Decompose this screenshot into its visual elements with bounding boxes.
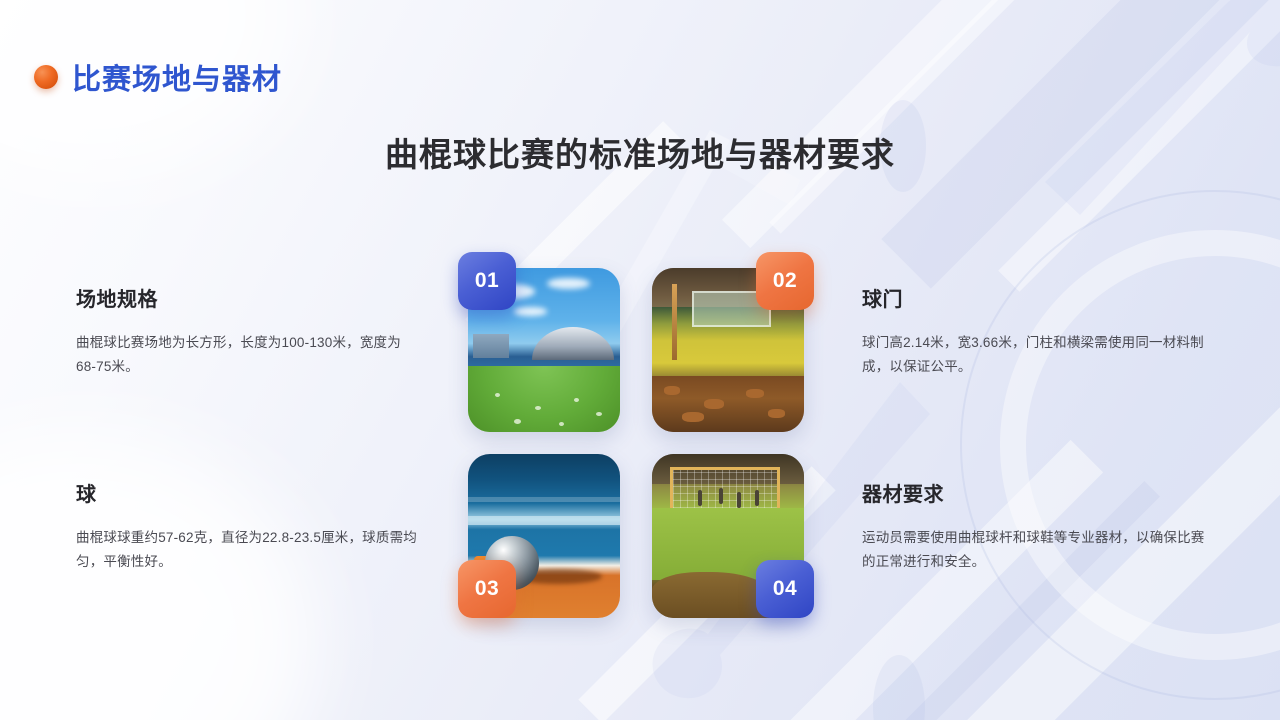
- block-body: 曲棍球球重约57-62克，直径为22.8-23.5厘米，球质需均匀，平衡性好。: [76, 526, 421, 573]
- image-card-grid: 01 02 03 04: [466, 252, 818, 624]
- slide-header: 比赛场地与器材: [34, 56, 282, 98]
- block-title: 球门: [862, 283, 1207, 312]
- background-ellipse-2: [873, 655, 925, 720]
- block-title: 球: [76, 478, 421, 507]
- block-body: 球门高2.14米，宽3.66米，门柱和横梁需使用同一材料制成，以保证公平。: [862, 331, 1207, 378]
- block-title: 场地规格: [76, 283, 421, 312]
- content-block-goal: 球门 球门高2.14米，宽3.66米，门柱和横梁需使用同一材料制成，以保证公平。: [862, 283, 1207, 378]
- background-ring-thin: [960, 190, 1280, 700]
- card-number-badge-01: 01: [458, 252, 516, 310]
- block-body: 运动员需要使用曲棍球杆和球鞋等专业器材，以确保比赛的正常进行和安全。: [862, 526, 1207, 573]
- block-body: 曲棍球比赛场地为长方形，长度为100-130米，宽度为68-75米。: [76, 331, 421, 378]
- diagonal-stripe-2: [769, 0, 1176, 234]
- orange-sphere-bullet-icon: [34, 65, 58, 89]
- diagonal-stripe-1: [722, 0, 1118, 248]
- card-number-badge-03: 03: [458, 560, 516, 618]
- content-block-ball: 球 曲棍球球重约57-62克，直径为22.8-23.5厘米，球质需均匀，平衡性好…: [76, 478, 421, 573]
- card-number-badge-04: 04: [756, 560, 814, 618]
- corner-glow-bottomleft: [0, 430, 320, 720]
- page-title: 曲棍球比赛的标准场地与器材要求: [0, 128, 1280, 176]
- block-title: 器材要求: [862, 478, 1207, 507]
- content-block-equipment: 器材要求 运动员需要使用曲棍球杆和球鞋等专业器材，以确保比赛的正常进行和安全。: [862, 478, 1207, 573]
- slide-canvas: 比赛场地与器材 曲棍球比赛的标准场地与器材要求 场地规格 曲棍球比赛场地为长方形…: [0, 0, 1280, 720]
- content-block-field-spec: 场地规格 曲棍球比赛场地为长方形，长度为100-130米，宽度为68-75米。: [76, 283, 421, 378]
- header-title: 比赛场地与器材: [72, 56, 282, 98]
- card-number-badge-02: 02: [756, 252, 814, 310]
